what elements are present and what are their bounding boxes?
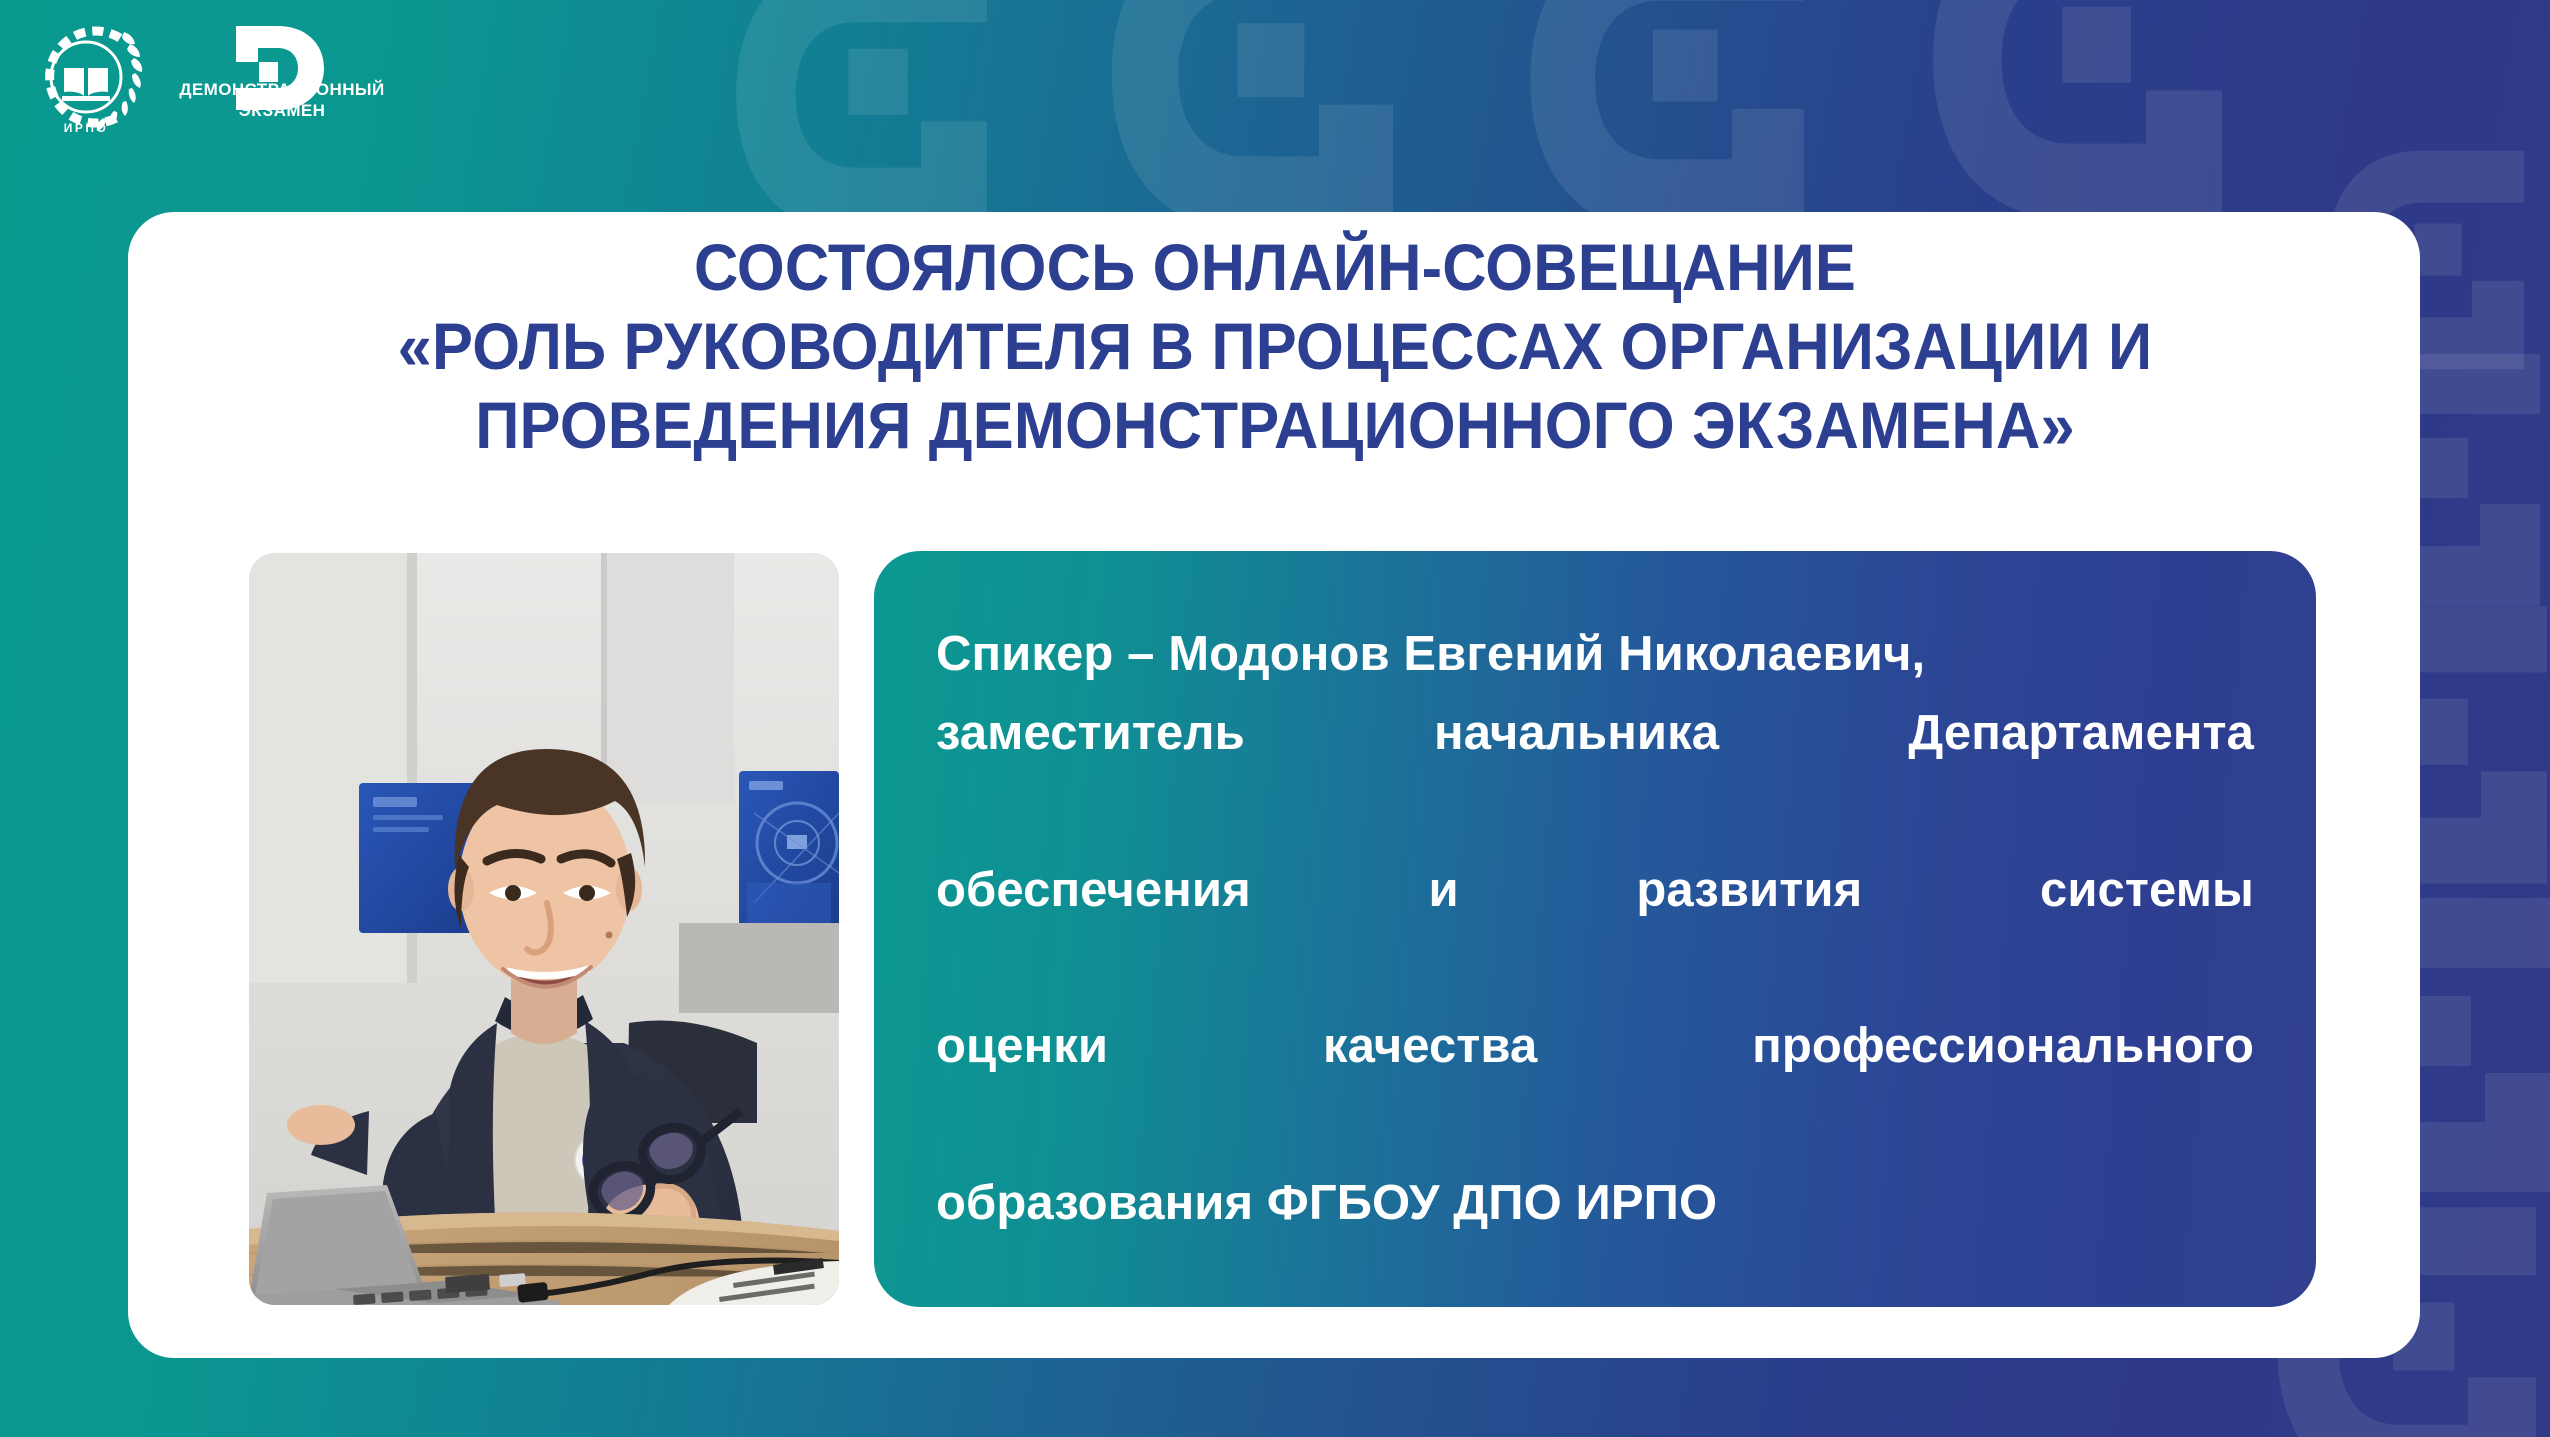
speaker-line-2: заместитель начальника Департамента: [936, 694, 2254, 851]
speaker-line-5: образования ФГБОУ ДПО ИРПО: [936, 1164, 2254, 1242]
page-title: СОСТОЯЛОСЬ ОНЛАЙН-СОВЕЩАНИЕ «РОЛЬ РУКОВО…: [229, 228, 2322, 466]
svg-text:ИРПО: ИРПО: [64, 121, 109, 135]
demo-exam-line2: ЭКЗАМЕН: [152, 101, 412, 122]
speaker-description: Спикер – Модонов Евгений Николаевич, зам…: [936, 615, 2254, 1242]
demo-exam-line1: ДЕМОНСТРАЦИОННЫЙ: [152, 80, 412, 101]
speaker-info-card: Спикер – Модонов Евгений Николаевич, зам…: [874, 551, 2316, 1307]
speaker-line-1: Спикер – Модонов Евгений Николаевич,: [936, 615, 2254, 693]
title-line-2: «РОЛЬ РУКОВОДИТЕЛЯ В ПРОЦЕССАХ ОРГАНИЗАЦ…: [229, 307, 2322, 386]
demo-exam-wordmark: ДЕМОНСТРАЦИОННЫЙ ЭКЗАМЕН: [152, 80, 412, 121]
slide-canvas: ИРПО ДЕМОНСТРАЦИОННЫЙ ЭКЗАМЕН СОСТОЯЛОСЬ…: [0, 0, 2550, 1437]
speaker-line-4: оценки качества профессионального: [936, 1007, 2254, 1164]
irpo-emblem-icon: ИРПО: [24, 16, 148, 138]
title-line-3: ПРОВЕДЕНИЯ ДЕМОНСТРАЦИОННОГО ЭКЗАМЕНА»: [229, 386, 2322, 465]
speaker-line-3: обеспечения и развития системы: [936, 851, 2254, 1008]
title-line-1: СОСТОЯЛОСЬ ОНЛАЙН-СОВЕЩАНИЕ: [229, 228, 2322, 307]
speaker-photo: [249, 553, 839, 1305]
